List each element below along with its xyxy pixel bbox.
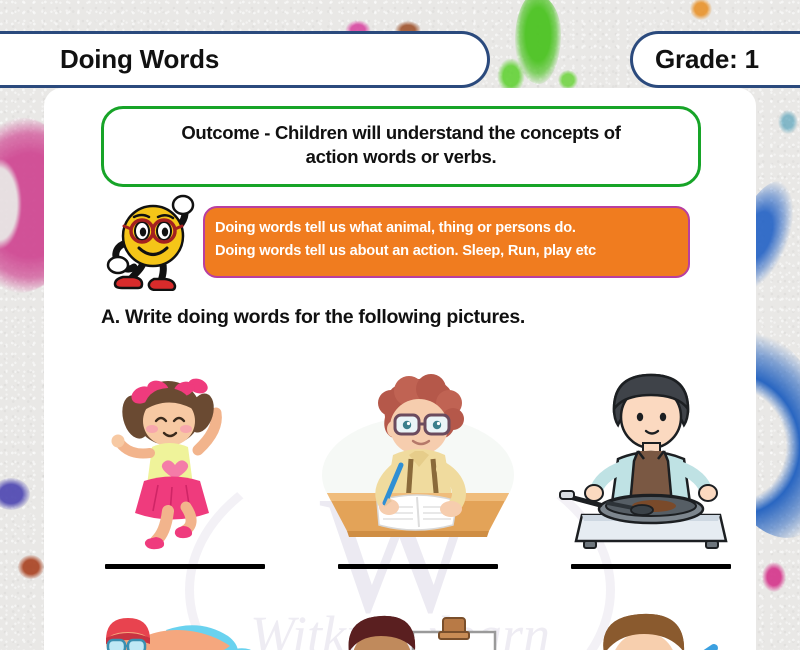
picture-girl-dancing <box>80 355 290 550</box>
answer-line-row <box>68 556 756 576</box>
page-title: Doing Words <box>60 44 219 75</box>
note-line-2: Doing words tell us about an action. Sle… <box>215 240 674 263</box>
grade-pill: Grade: 1 <box>630 31 800 88</box>
section-a-heading: A. Write doing words for the following p… <box>101 306 525 329</box>
answer-line-1[interactable] <box>105 564 265 569</box>
picture-boy-writing <box>313 355 523 550</box>
answer-line-3[interactable] <box>571 564 731 569</box>
worksheet-card: W Witknowlearn A Family Of Learners Outc… <box>44 88 756 650</box>
picture-row-1 <box>68 350 756 550</box>
header: Doing Words Grade: 1 <box>0 31 800 88</box>
picture-row-2 <box>68 606 756 650</box>
outcome-line-2: action words or verbs. <box>126 145 676 169</box>
instruction-note-box: Doing words tell us what animal, thing o… <box>203 206 690 278</box>
picture-child-brushing <box>546 606 756 650</box>
outcome-line-1: Outcome - Children will understand the c… <box>126 121 676 145</box>
worksheet-title-pill: Doing Words <box>0 31 490 88</box>
grade-label: Grade: 1 <box>655 44 759 75</box>
picture-child-painting <box>313 606 523 650</box>
note-line-1: Doing words tell us what animal, thing o… <box>215 217 674 240</box>
note-section: Doing words tell us what animal, thing o… <box>101 196 701 291</box>
picture-child-swimming <box>80 606 290 650</box>
picture-boy-cooking <box>546 355 756 550</box>
answer-line-2[interactable] <box>338 564 498 569</box>
smiley-mascot-icon <box>101 191 211 291</box>
outcome-box: Outcome - Children will understand the c… <box>101 106 701 187</box>
